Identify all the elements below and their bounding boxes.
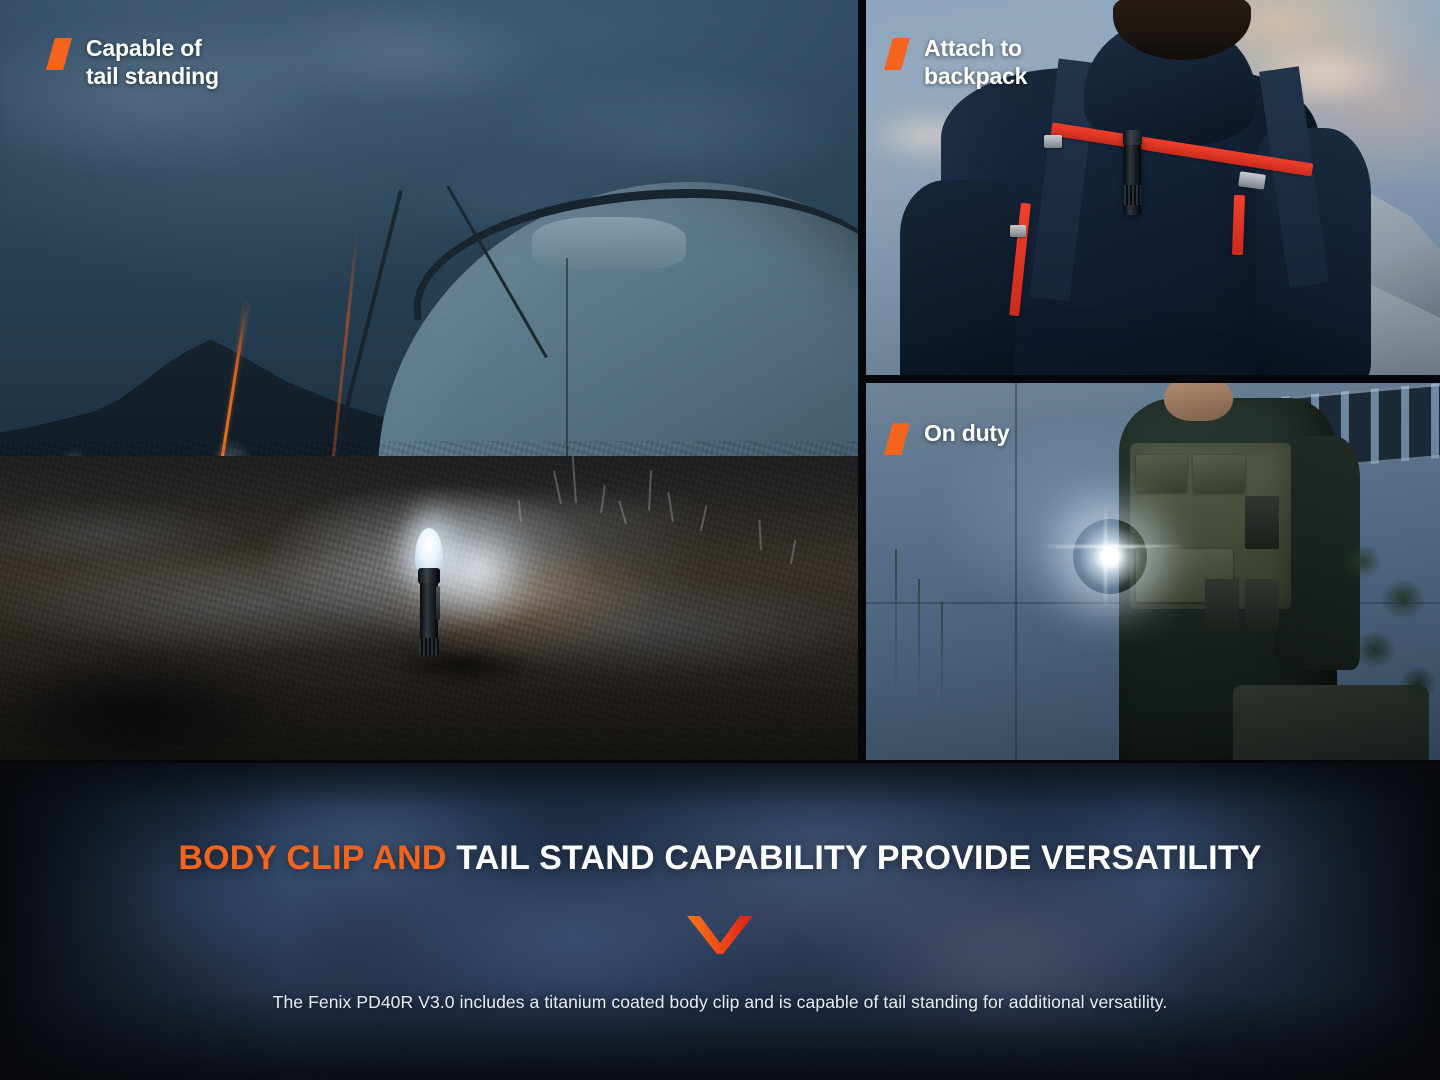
flashlight-diffuser — [415, 528, 443, 570]
orange-slash-icon — [46, 38, 72, 70]
label-on-duty-text: On duty — [924, 419, 1009, 447]
flashlight-glow — [383, 486, 572, 653]
chevron-down-icon — [687, 916, 753, 954]
label-attach-to-backpack: Attach to backpack — [884, 34, 1027, 90]
headline-highlight: BODY CLIP AND — [178, 839, 446, 877]
strap-buckle-left — [1044, 135, 1062, 148]
mag-pouch-1 — [1245, 496, 1279, 549]
label-tail-standing-text: Capable of tail standing — [86, 34, 219, 90]
flashlight-tailcap — [1124, 185, 1141, 205]
foliage-right — [1325, 519, 1440, 730]
panel-tail-standing: Capable of tail standing — [0, 0, 858, 760]
strap-buckle-center — [1238, 171, 1266, 189]
label-tail-standing: Capable of tail standing — [46, 34, 219, 90]
hiker-arm-left — [900, 180, 1015, 375]
flashlight-beam-flare — [1073, 519, 1148, 594]
panel-on-duty: On duty — [866, 383, 1440, 760]
headline-rest: TAIL STAND CAPABILITY PROVIDE VERSATILIT… — [447, 839, 1262, 877]
banner-headline: BODY CLIP AND TAIL STAND CAPABILITY PROV… — [178, 839, 1261, 878]
panel-attach-to-backpack: Attach to backpack — [866, 0, 1440, 375]
wall-seam-vertical-1 — [1015, 383, 1017, 760]
flashlight-tail-standing — [414, 528, 444, 656]
operator-head — [1164, 383, 1233, 421]
orange-slash-icon — [884, 423, 910, 455]
orange-slash-icon — [884, 38, 910, 70]
product-feature-page: Capable of tail standing Attach to — [0, 0, 1440, 1080]
vest-pouch-1 — [1136, 455, 1188, 493]
flashlight-clipped — [1124, 131, 1141, 215]
flashlight-head — [1123, 130, 1142, 145]
flashlight-shadow — [360, 638, 566, 691]
flashlight-head — [418, 568, 440, 584]
label-attach-to-backpack-text: Attach to backpack — [924, 34, 1027, 90]
rock-foreground-shadow — [0, 623, 360, 760]
feature-banner: BODY CLIP AND TAIL STAND CAPABILITY PROV… — [0, 763, 1440, 1080]
mag-pouch-2 — [1205, 579, 1239, 632]
banner-caption: The Fenix PD40R V3.0 includes a titanium… — [273, 992, 1168, 1013]
wall-vine-3 — [941, 602, 943, 715]
wall-vine-2 — [918, 579, 920, 707]
tent-vent — [532, 217, 686, 270]
label-on-duty: On duty — [884, 419, 1009, 455]
strap-buckle-lower — [1010, 225, 1026, 237]
wall-vine-1 — [895, 549, 897, 700]
vest-pouch-2 — [1193, 455, 1245, 493]
mag-pouch-3 — [1245, 579, 1279, 632]
flashlight-tailcap — [419, 638, 439, 656]
flashlight-body-clip — [436, 586, 440, 620]
